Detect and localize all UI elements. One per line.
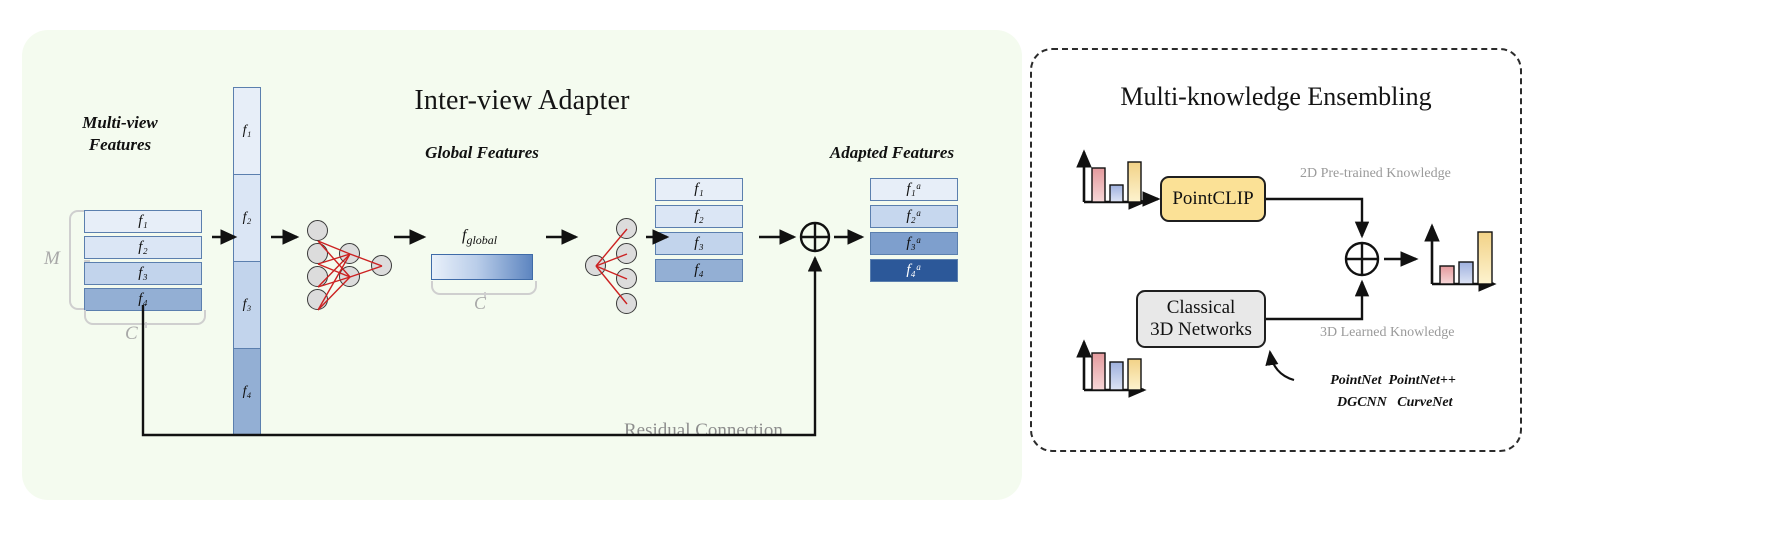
path-3d-knowledge (1266, 282, 1362, 319)
inter-view-adapter-panel: Inter-view Adapter Multi-view Features M… (22, 30, 1022, 500)
left-panel-connectors (22, 30, 1022, 500)
path-2d-knowledge (1266, 199, 1362, 236)
mlp-edges-encoder (318, 241, 382, 310)
curved-arrow-to-3d-box (1270, 352, 1294, 380)
residual-connection-path (143, 258, 815, 435)
residual-add-operator (801, 223, 829, 251)
diagram-root: Inter-view Adapter Multi-view Features M… (0, 0, 1766, 550)
right-panel-graphics (1032, 50, 1524, 454)
mlp-edges-decoder (596, 229, 627, 304)
multi-knowledge-ensembling-panel: Multi-knowledge Ensembling PointCLIP Cla… (1030, 48, 1522, 452)
chart-pointclip-input-bars (1092, 162, 1141, 202)
chart-3dnet-input-bars (1092, 353, 1141, 390)
ensemble-add-operator (1346, 243, 1378, 275)
chart-ensembled-output-bars (1440, 232, 1492, 284)
